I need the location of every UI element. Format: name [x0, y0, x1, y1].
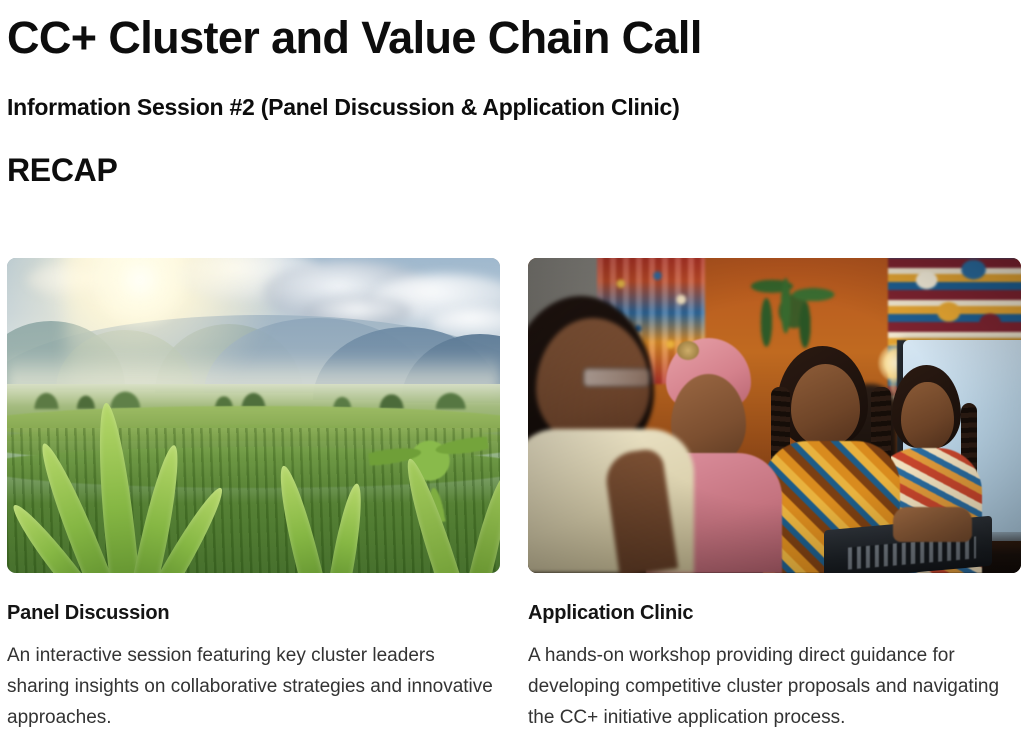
card-title: Panel Discussion	[7, 573, 500, 625]
photo-vignette	[528, 258, 1021, 573]
card-title: Application Clinic	[528, 573, 1021, 625]
card-panel-discussion: Panel Discussion An interactive session …	[7, 258, 500, 733]
card-application-clinic: Application Clinic A hands-on workshop p…	[528, 258, 1021, 733]
farm-landscape-illustration	[7, 258, 500, 573]
recap-page: CC+ Cluster and Value Chain Call Informa…	[0, 0, 1024, 752]
page-title: CC+ Cluster and Value Chain Call	[7, 0, 1024, 63]
page-subtitle: Information Session #2 (Panel Discussion…	[7, 63, 1024, 122]
panel-discussion-photo	[7, 258, 500, 573]
section-heading-recap: RECAP	[7, 122, 1024, 189]
recap-card-grid: Panel Discussion An interactive session …	[7, 258, 1024, 733]
application-clinic-photo	[528, 258, 1021, 573]
card-description: A hands-on workshop providing direct gui…	[528, 625, 1021, 733]
card-description: An interactive session featuring key clu…	[7, 625, 500, 733]
workshop-illustration	[528, 258, 1021, 573]
